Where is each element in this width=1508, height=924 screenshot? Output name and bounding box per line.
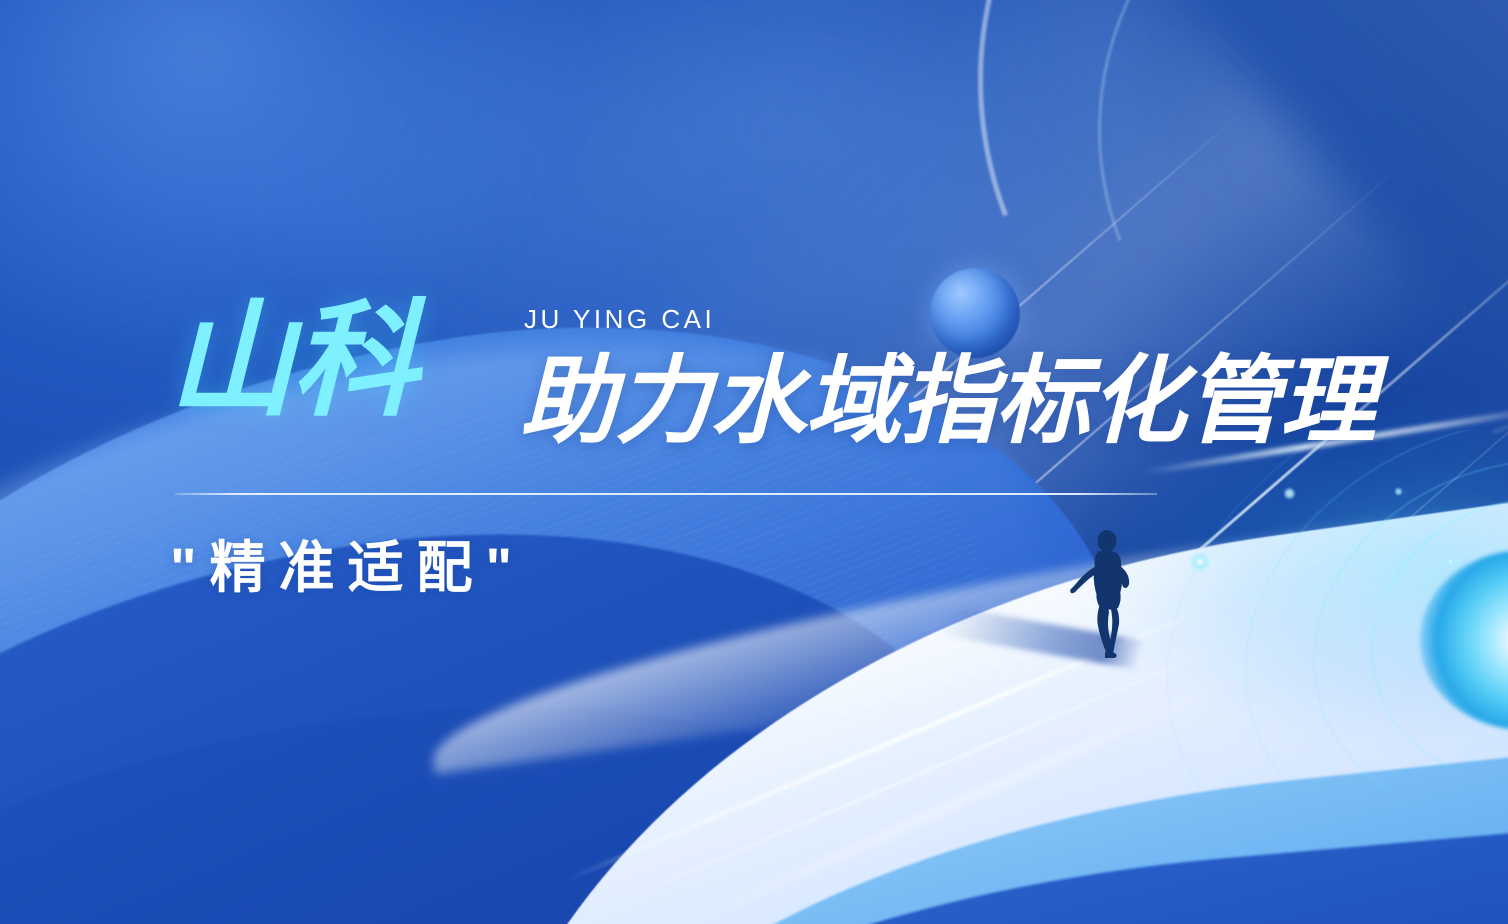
brand-pinyin: JU YING CAI — [524, 306, 715, 332]
banner-text-block: 山科 JU YING CAI 助力水域指标化管理 "精准适配" — [0, 0, 1508, 924]
tagline-text: "精准适配" — [170, 540, 525, 596]
divider-line — [175, 493, 1157, 495]
brand-name: 山科 — [168, 298, 416, 424]
headline-text: 助力水域指标化管理 — [520, 354, 1375, 450]
promotional-banner: 山科 JU YING CAI 助力水域指标化管理 "精准适配" — [0, 0, 1508, 924]
